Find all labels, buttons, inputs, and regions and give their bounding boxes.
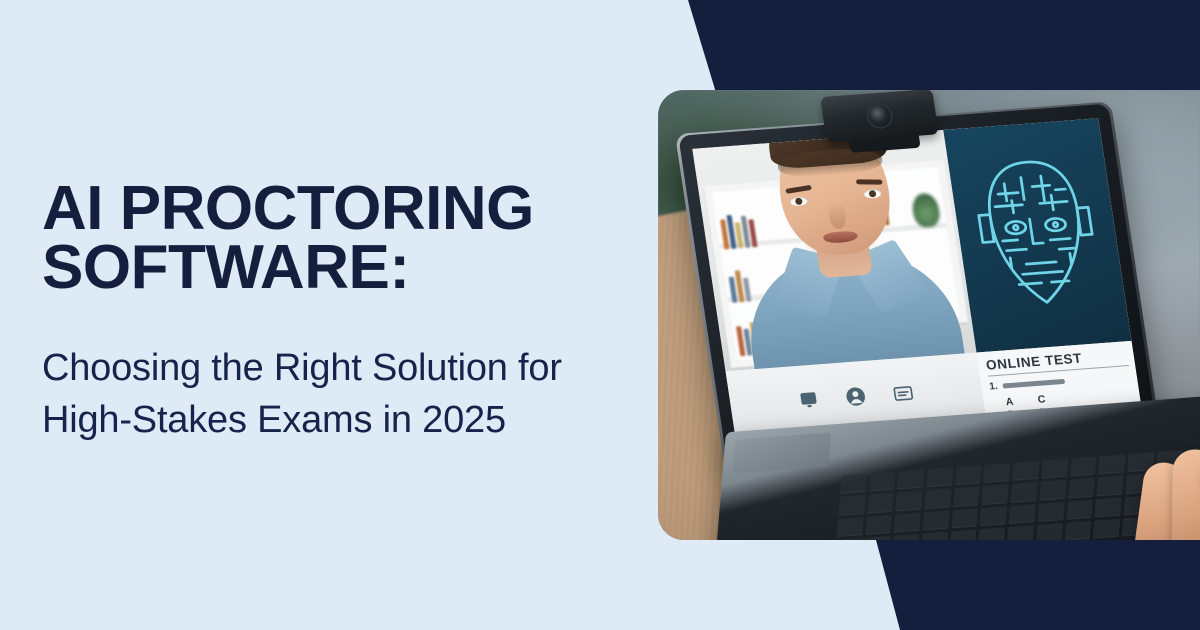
monitor-icon[interactable]: [797, 390, 820, 411]
navy-wedge-top: [660, 0, 1200, 96]
choice-c[interactable]: C: [1037, 392, 1061, 406]
document-icon[interactable]: [891, 382, 915, 404]
typing-hand: [1104, 445, 1200, 540]
exam-candidate: [715, 130, 967, 369]
laptop: ONLINE TEST 1. A C B D: [678, 98, 1200, 540]
video-pane: [692, 130, 976, 371]
text-column: AI PROCTORING SOFTWARE: Choosing the Rig…: [42, 180, 642, 447]
user-icon[interactable]: [843, 385, 868, 408]
page-subtitle: Choosing the Right Solution for High-Sta…: [42, 342, 642, 447]
ai-face-icon: [962, 142, 1113, 329]
question-placeholder-bar: [1002, 379, 1065, 389]
webcam-lens: [867, 104, 892, 127]
choice-a[interactable]: A: [1005, 395, 1029, 409]
laptop-screen: ONLINE TEST 1. A C B D: [692, 118, 1142, 441]
ai-panel: [943, 118, 1132, 352]
hero-photo: ONLINE TEST 1. A C B D: [658, 90, 1200, 540]
finger: [1172, 448, 1200, 540]
external-webcam: [820, 90, 939, 143]
laptop-hinge-strip: [732, 432, 831, 473]
eyebrow-right: [856, 179, 883, 184]
social-card: AI PROCTORING SOFTWARE: Choosing the Rig…: [0, 0, 1200, 630]
question-number: 1.: [989, 381, 999, 393]
test-title: ONLINE TEST: [985, 347, 1129, 372]
page-title: AI PROCTORING SOFTWARE:: [42, 180, 642, 298]
navy-wedge-bottom: [860, 540, 1200, 630]
webcam-body: [820, 90, 939, 143]
